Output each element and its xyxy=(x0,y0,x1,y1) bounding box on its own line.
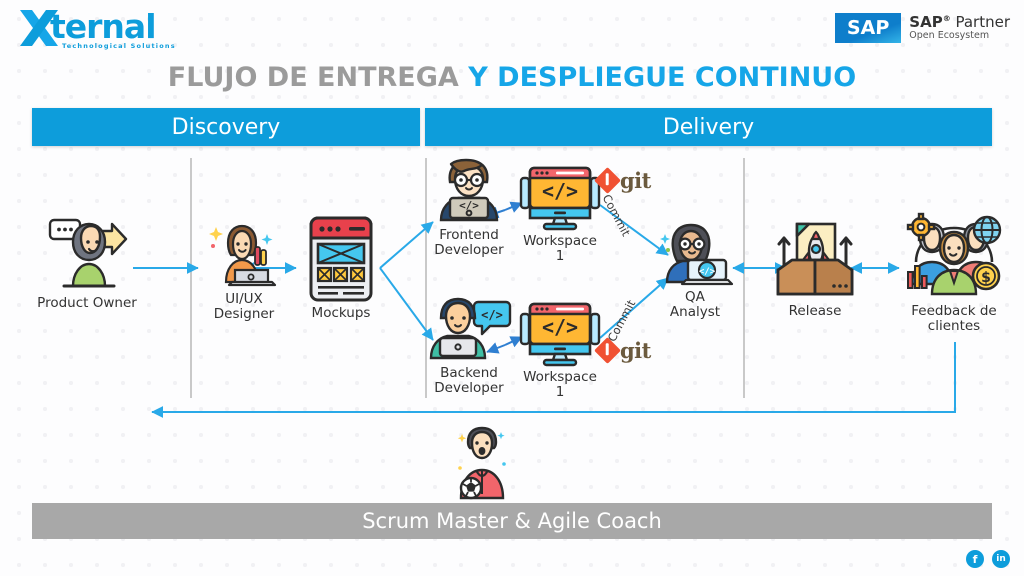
logo-tagline: Technological Solutions xyxy=(62,42,176,50)
git-wordmark-bottom: git xyxy=(620,338,651,363)
git-wordmark-top: git xyxy=(620,168,651,193)
workspace-monitor-icon: </> xyxy=(518,164,602,230)
node-label-feedback-clientes: Feedback de clientes xyxy=(911,304,996,334)
sap-partner-line2: Open Ecosystem xyxy=(909,31,1010,42)
release-icon xyxy=(772,218,858,300)
feedback-clientes-icon: $ xyxy=(902,214,1006,300)
node-product-owner[interactable]: Product Owner xyxy=(34,218,140,311)
sap-partner-logo: SAP SAP® Partner Open Ecosystem xyxy=(835,8,1010,48)
linkedin-icon[interactable]: in xyxy=(992,550,1010,568)
product-owner-icon xyxy=(42,218,132,292)
node-workspace-frontend[interactable]: </> Workspace 1 xyxy=(518,164,602,264)
company-logo: ternal Technological Solutions xyxy=(14,6,184,54)
node-mockups[interactable]: Mockups xyxy=(300,216,382,321)
backend-developer-icon: </> xyxy=(426,296,512,362)
facebook-icon[interactable]: f xyxy=(966,550,984,568)
git-diamond-icon xyxy=(594,167,621,194)
node-feedback-clientes[interactable]: $ Feedback de clientes xyxy=(898,214,1010,334)
svg-text:</>: </> xyxy=(542,315,578,339)
social-links: f in xyxy=(966,550,1010,568)
node-label-workspace-backend: Workspace 1 xyxy=(518,370,602,400)
title-part-gray: FLUJO DE ENTREGA xyxy=(168,62,459,93)
sap-partner-text: SAP® Partner Open Ecosystem xyxy=(909,14,1010,41)
sap-badge-text: SAP xyxy=(847,17,890,39)
phase-label-discovery: Discovery xyxy=(172,115,281,140)
node-frontend-developer[interactable]: </> Frontend Developer xyxy=(428,158,510,258)
uiux-designer-icon xyxy=(205,222,283,288)
lane-divider-1 xyxy=(190,158,192,398)
node-label-mockups: Mockups xyxy=(312,306,371,321)
workspace-monitor-icon: </> xyxy=(518,300,602,366)
svg-text:</>: </> xyxy=(481,308,503,322)
node-backend-developer[interactable]: </> Backend Developer xyxy=(428,296,510,396)
scrum-master-bar[interactable]: Scrum Master & Agile Coach xyxy=(32,503,992,539)
scrum-master-icon-wrap[interactable] xyxy=(452,424,512,500)
scrum-master-label: Scrum Master & Agile Coach xyxy=(362,509,662,533)
node-workspace-backend[interactable]: </> Workspace 1 xyxy=(518,300,602,400)
node-label-qa-analyst: QA Analyst xyxy=(670,290,720,320)
qa-analyst-icon: </> xyxy=(656,222,734,286)
node-label-product-owner: Product Owner xyxy=(37,296,137,311)
node-label-workspace-frontend: Workspace 1 xyxy=(518,234,602,264)
sap-badge: SAP xyxy=(835,13,901,43)
scrum-master-icon xyxy=(452,424,512,500)
node-label-frontend-developer: Frontend Developer xyxy=(434,228,503,258)
mockups-icon xyxy=(307,216,375,302)
node-label-release: Release xyxy=(789,304,842,319)
title-part-blue: Y DESPLIEGUE CONTINUO xyxy=(468,62,856,93)
sap-partner-line1: SAP® Partner xyxy=(909,14,1010,31)
svg-text:</>: </> xyxy=(542,179,578,203)
node-release[interactable]: Release xyxy=(770,218,860,319)
phase-header-delivery[interactable]: Delivery xyxy=(425,108,992,146)
lane-divider-3 xyxy=(743,158,745,398)
phase-header-discovery[interactable]: Discovery xyxy=(32,108,420,146)
git-logo-top: git xyxy=(598,168,651,193)
page-title: FLUJO DE ENTREGA Y DESPLIEGUE CONTINUO xyxy=(0,62,1024,93)
svg-text:</>: </> xyxy=(699,267,716,277)
logo-wordmark: ternal xyxy=(50,10,156,44)
node-uiux-designer[interactable]: UI/UX Designer xyxy=(196,222,292,322)
node-label-backend-developer: Backend Developer xyxy=(434,366,503,396)
node-label-uiux-designer: UI/UX Designer xyxy=(214,292,274,322)
slide-canvas: ternal Technological Solutions SAP SAP® … xyxy=(0,0,1024,576)
commit-label-top: Commit xyxy=(600,192,634,238)
frontend-developer-icon: </> xyxy=(433,158,505,224)
phase-label-delivery: Delivery xyxy=(663,115,754,140)
svg-text:$: $ xyxy=(981,270,991,286)
node-qa-analyst[interactable]: </> QA Analyst xyxy=(655,222,735,320)
git-logo-bottom: git xyxy=(598,338,651,363)
lane-divider-2 xyxy=(425,158,427,398)
